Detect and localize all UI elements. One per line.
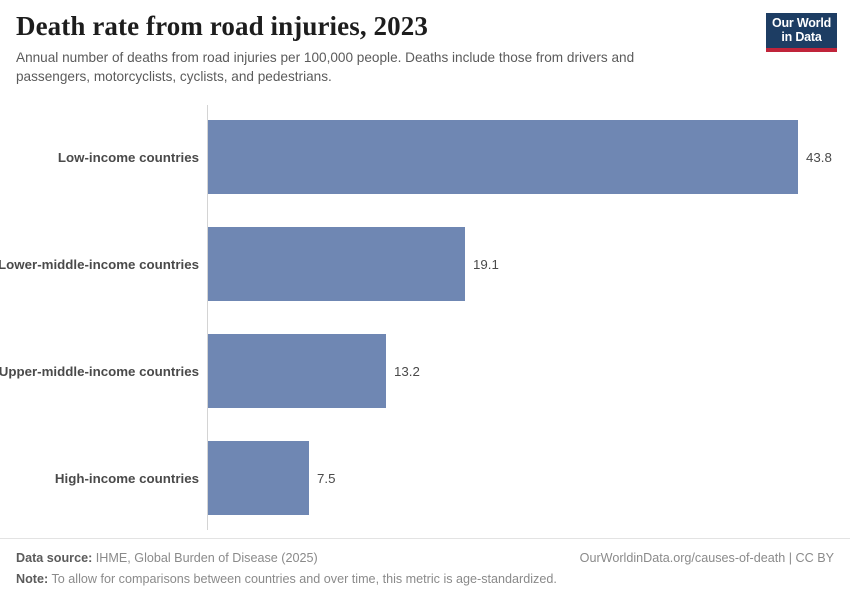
data-source-value: IHME, Global Burden of Disease (2025) bbox=[96, 551, 318, 565]
chart-page: Death rate from road injuries, 2023 Annu… bbox=[0, 0, 850, 600]
bar-row[interactable]: Upper-middle-income countries13.2 bbox=[0, 318, 850, 425]
note-label: Note: bbox=[16, 572, 48, 586]
our-world-in-data-logo[interactable]: Our World in Data bbox=[766, 13, 837, 52]
bar-row[interactable]: Lower-middle-income countries19.1 bbox=[0, 211, 850, 318]
bar-row[interactable]: Low-income countries43.8 bbox=[0, 104, 850, 211]
bar-category-label: Low-income countries bbox=[0, 104, 199, 211]
bar-row[interactable]: High-income countries7.5 bbox=[0, 425, 850, 532]
bar-value-label: 13.2 bbox=[394, 334, 420, 408]
chart-subtitle: Annual number of deaths from road injuri… bbox=[16, 48, 706, 86]
bar[interactable] bbox=[208, 334, 386, 408]
logo-line-1: Our World bbox=[772, 16, 831, 30]
note-line: Note: To allow for comparisons between c… bbox=[16, 571, 834, 588]
bar-value-label: 43.8 bbox=[806, 120, 832, 194]
bar-value-label: 19.1 bbox=[473, 227, 499, 301]
note-value: To allow for comparisons between countri… bbox=[51, 572, 556, 586]
page-title: Death rate from road injuries, 2023 bbox=[16, 10, 746, 42]
chart-footer: Data source: IHME, Global Burden of Dise… bbox=[0, 538, 850, 600]
chart-plot-area: Low-income countries43.8Lower-middle-inc… bbox=[0, 104, 850, 532]
attribution-link[interactable]: OurWorldinData.org/causes-of-death | CC … bbox=[580, 550, 834, 567]
bar-value-label: 7.5 bbox=[317, 441, 336, 515]
bar[interactable] bbox=[208, 120, 798, 194]
bar[interactable] bbox=[208, 441, 309, 515]
bar-category-label: Upper-middle-income countries bbox=[0, 318, 199, 425]
bar-category-label: High-income countries bbox=[0, 425, 199, 532]
logo-line-2: in Data bbox=[781, 30, 821, 44]
bar-category-label: Lower-middle-income countries bbox=[0, 211, 199, 318]
data-source-label: Data source: bbox=[16, 551, 92, 565]
bar[interactable] bbox=[208, 227, 465, 301]
chart-header: Death rate from road injuries, 2023 Annu… bbox=[16, 10, 746, 86]
